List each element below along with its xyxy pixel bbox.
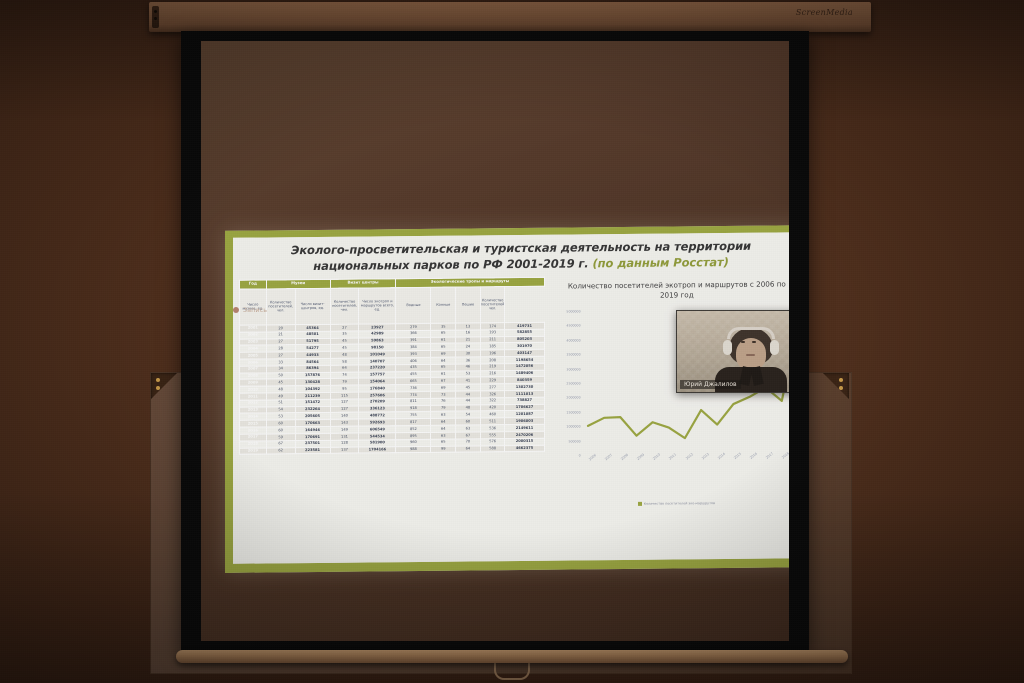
projector-screen-housing: ScreenMedia xyxy=(149,2,871,32)
cell-year: 2019 xyxy=(240,447,267,454)
slide-border-left xyxy=(225,231,233,573)
statistics-table: Год Музеи Визит центры Экологические тро… xyxy=(239,277,545,455)
chart-y-tick: 2000000 xyxy=(551,396,581,400)
table-subheader-vc-count: Число визит-центров, ед. xyxy=(295,288,330,325)
screen-weight-bar xyxy=(176,650,848,663)
cell-value: 62 xyxy=(266,447,295,454)
chart-y-tick: 1500000 xyxy=(551,410,581,414)
participant-eye-left xyxy=(741,341,745,343)
webcam-video-tile[interactable]: Юрий Джалилов xyxy=(676,310,789,393)
projected-image: Запись Эколого-просветительская и турист… xyxy=(211,196,785,571)
table-sub-header-row: Число музеев, ед. Количество посетителей… xyxy=(240,286,545,325)
screen-pull-handle[interactable] xyxy=(494,660,530,680)
table-subheader-water: Водные xyxy=(396,287,431,324)
presentation-slide: Эколого-просветительская и туристская де… xyxy=(225,225,789,573)
chart-legend: Количество посетителей эко-маршрутов xyxy=(551,500,789,506)
cell-value: 223581 xyxy=(295,447,330,454)
cell-value: 588 xyxy=(480,445,505,452)
table-subheader-horse: Конные xyxy=(431,287,456,323)
chart-x-axis-labels: 2006200720082009201020112012201320142015… xyxy=(581,454,789,496)
slide-title-line1: Эколого-просветительская и туристская де… xyxy=(291,240,670,258)
table-subheader-museum-visitors: Количество посетителей, чел. xyxy=(266,288,295,324)
participant-name-label: Юрий Джалилов xyxy=(680,380,741,389)
table-subheader-trail-visitors: Количество посетителей, чел. xyxy=(480,286,505,322)
chart-y-tick: 5000000 xyxy=(551,309,581,313)
record-icon xyxy=(233,307,239,313)
cell-value: 64 xyxy=(456,445,481,452)
recording-label: Запись xyxy=(243,306,267,314)
slide-title-note2: Росстат) xyxy=(673,255,729,270)
table-body: 2001204536427239272793513174419731200221… xyxy=(240,322,545,454)
statistics-table-wrapper: Год Музеи Визит центры Экологические тро… xyxy=(239,277,545,520)
legend-label: Количество посетителей эко-маршрутов xyxy=(644,501,715,506)
cell-value: 137 xyxy=(330,447,359,454)
headphone-cup-left xyxy=(723,340,732,355)
slide-title-note: (по данным xyxy=(592,255,669,270)
chart-y-tick: 4500000 xyxy=(551,324,581,328)
slide-content: Эколого-просветительская и туристская де… xyxy=(233,232,789,564)
cell-value: 988 xyxy=(396,446,431,453)
recording-indicator: Запись xyxy=(233,306,267,314)
table-subheader-trails-total: Число экотроп и маршрутов всего, ед. xyxy=(359,287,396,324)
chart-y-tick: 3500000 xyxy=(551,353,581,357)
projection-screen-frame: Запись Эколого-просветительская и турист… xyxy=(181,31,809,651)
chart-y-tick: 0 xyxy=(551,453,581,457)
projection-screen-surface: Запись Эколого-просветительская и турист… xyxy=(201,41,789,641)
table-header-year: Год xyxy=(240,280,267,289)
chart-y-tick: 500000 xyxy=(551,439,581,443)
headphone-cup-right xyxy=(770,340,779,355)
participant-eye-right xyxy=(752,341,756,343)
cell-value: 1704166 xyxy=(359,446,396,453)
chart-y-tick: 3000000 xyxy=(551,367,581,371)
legend-swatch-icon xyxy=(638,502,642,506)
chart-y-tick: 2500000 xyxy=(551,381,581,385)
housing-endcap xyxy=(152,6,159,28)
chart-y-tick: 1000000 xyxy=(551,425,581,429)
slide-title: Эколого-просветительская и туристская де… xyxy=(233,232,789,277)
cell-value: 4662375 xyxy=(505,445,544,452)
chart-y-tick: 4000000 xyxy=(551,338,581,342)
slide-body: Год Музеи Визит центры Экологические тро… xyxy=(233,271,789,519)
table-subheader-foot: Пешие xyxy=(456,287,481,323)
table-subheader-vc-visitors: Количество посетителей, чел. xyxy=(330,288,359,324)
headphones-icon xyxy=(727,327,775,339)
chart-title: Количество посетителей экотроп и маршрут… xyxy=(551,274,789,302)
cell-value: 99 xyxy=(431,446,456,453)
participant-mouth xyxy=(746,354,755,356)
projector-brand-logo: ScreenMedia xyxy=(796,8,853,17)
